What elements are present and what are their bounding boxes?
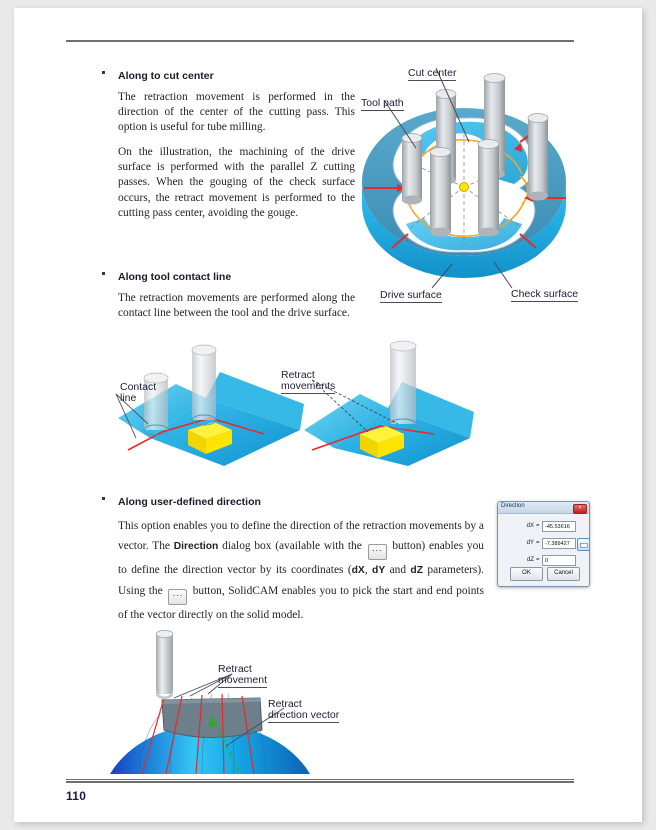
figure-contact-line-right [294, 338, 484, 468]
dialog-field-dx: dX = -45.53616 [498, 521, 589, 534]
heading-along-tool-contact-line: Along tool contact line [118, 271, 231, 283]
para3-part2: dialog box (available with the [218, 540, 365, 552]
cancel-button[interactable]: Cancel [547, 567, 580, 581]
paragraph-cut-center-1: The retraction movement is performed in … [118, 90, 355, 136]
dz-label: dZ [512, 557, 534, 563]
para3-part5: and [385, 564, 410, 576]
footer-rule [66, 779, 574, 783]
dz-equals: = [536, 557, 540, 563]
header-rule [66, 40, 574, 42]
para3-bold-direction: Direction [174, 541, 219, 552]
document-page: Along to cut center The retraction movem… [14, 8, 642, 822]
direction-dialog[interactable]: Direction × dX = -45.53616 dY = -7.38942… [497, 501, 590, 587]
paragraph-cut-center-2: On the illustration, the machining of th… [118, 145, 355, 221]
figure-contact-line-left [114, 338, 314, 468]
label-retract-direction-vector-2: direction vector [268, 710, 339, 723]
dz-input[interactable]: 0 [542, 555, 576, 566]
para3-part4: , [365, 564, 372, 576]
label-contact-line-2: line [120, 393, 136, 405]
bullet-dot-icon [102, 497, 105, 500]
label-check-surface: Check surface [511, 289, 578, 302]
pick-vector-icon[interactable] [577, 538, 590, 551]
close-icon[interactable]: × [573, 504, 587, 514]
label-drive-surface: Drive surface [380, 290, 442, 303]
figure-cut-center [344, 56, 624, 306]
dy-equals: = [536, 540, 540, 546]
ok-button[interactable]: OK [510, 567, 543, 581]
dialog-title-text: Direction [501, 503, 525, 509]
para3-bold-dy: dY [372, 565, 385, 576]
ellipsis-button-inline-2[interactable]: ··· [168, 589, 187, 605]
dy-label: dY [512, 540, 534, 546]
dx-label: dX [512, 523, 534, 529]
heading-along-user-defined-direction: Along user-defined direction [118, 496, 261, 508]
dialog-title-bar[interactable]: Direction × [498, 502, 589, 514]
dy-input[interactable]: -7.389427 [542, 538, 576, 549]
dx-input[interactable]: -45.53616 [542, 521, 576, 532]
heading-along-to-cut-center: Along to cut center [118, 70, 214, 82]
label-retract-movement-2: movement [218, 675, 267, 688]
bullet-dot-icon [102, 71, 105, 74]
page-number: 110 [66, 789, 86, 803]
dialog-field-dy: dY = -7.389427 [498, 538, 589, 551]
paragraph-user-defined-direction: This option enables you to define the di… [118, 516, 484, 625]
bullet-dot-icon [102, 272, 105, 275]
para3-bold-dz: dZ [410, 565, 423, 576]
dx-equals: = [536, 523, 540, 529]
label-cut-center: Cut center [408, 68, 456, 81]
paragraph-contact-line: The retraction movements are performed a… [118, 291, 355, 321]
para3-bold-dx: dX [352, 565, 365, 576]
label-tool-path: Tool path [361, 98, 404, 111]
label-retract-movements-2: movements [281, 381, 335, 394]
ellipsis-button-inline-1[interactable]: ··· [368, 544, 387, 560]
